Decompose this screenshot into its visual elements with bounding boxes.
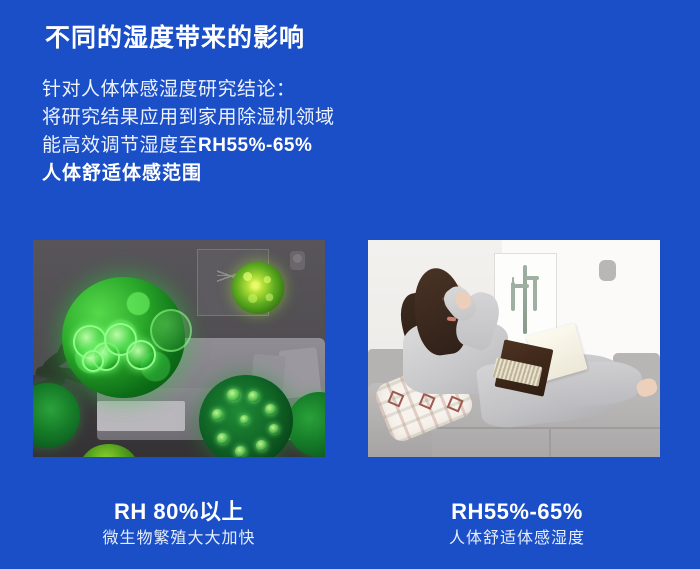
virus-sphere [199, 375, 292, 457]
page-title: 不同的湿度带来的影响 [45, 18, 305, 54]
sofa-seam [435, 427, 660, 429]
caption-high-humidity: RH 80%以上 微生物繁殖大大加快 [14, 498, 344, 551]
dark-room-scene [33, 240, 325, 457]
wall-speaker-icon [599, 260, 616, 281]
cushion-a [279, 347, 322, 398]
promo-page: 不同的湿度带来的影响 针对人体体感湿度研究结论： 将研究结果应用到家用除湿机领域… [0, 0, 700, 569]
mold-cell [82, 350, 104, 372]
sofa-seam [549, 427, 551, 457]
cactus-arm [525, 276, 539, 280]
virus-spike [256, 440, 267, 451]
pillow-motif [387, 391, 404, 408]
intro-line-1: 针对人体体感湿度研究结论： [42, 76, 335, 104]
mold-cell-ring [150, 309, 192, 352]
caption-subtitle: 人体舒适体感湿度 [352, 527, 682, 551]
caption-comfort-humidity: RH55%-65% 人体舒适体感湿度 [352, 498, 682, 551]
intro-line-2: 将研究结果应用到家用除湿机领域 [42, 104, 335, 132]
bright-room-scene [368, 240, 660, 457]
intro-line-3-prefix: 能高效调节湿度至 [42, 135, 198, 156]
cactus-arm [513, 284, 529, 288]
photo-comfort-humidity [368, 240, 660, 457]
intro-line-3: 能高效调节湿度至RH55%-65% [42, 132, 335, 160]
virus-spike [235, 446, 246, 457]
virus-spike [269, 424, 279, 434]
virus-spike [240, 415, 249, 424]
sofa-base [97, 401, 185, 431]
virus-spike [212, 409, 223, 420]
photo-high-humidity [33, 240, 325, 457]
virus-spike [248, 391, 259, 402]
virus-spike [217, 433, 228, 444]
virus-spike [227, 389, 239, 401]
mold-sphere-small [232, 262, 285, 314]
intro-humidity-range: RH55%-65% [198, 135, 312, 156]
intro-paragraph: 针对人体体感湿度研究结论： 将研究结果应用到家用除湿机领域 能高效调节湿度至RH… [42, 76, 335, 188]
pillow-motif [446, 396, 463, 413]
wall-thermostat-icon [290, 251, 305, 270]
mold-cell [126, 340, 156, 370]
virus-spike [265, 404, 276, 415]
pillow-motif [418, 392, 435, 409]
caption-title: RH55%-65% [352, 498, 682, 526]
intro-line-4: 人体舒适体感范围 [42, 160, 335, 188]
caption-title: RH 80%以上 [14, 498, 344, 526]
caption-subtitle: 微生物繁殖大大加快 [14, 527, 344, 551]
